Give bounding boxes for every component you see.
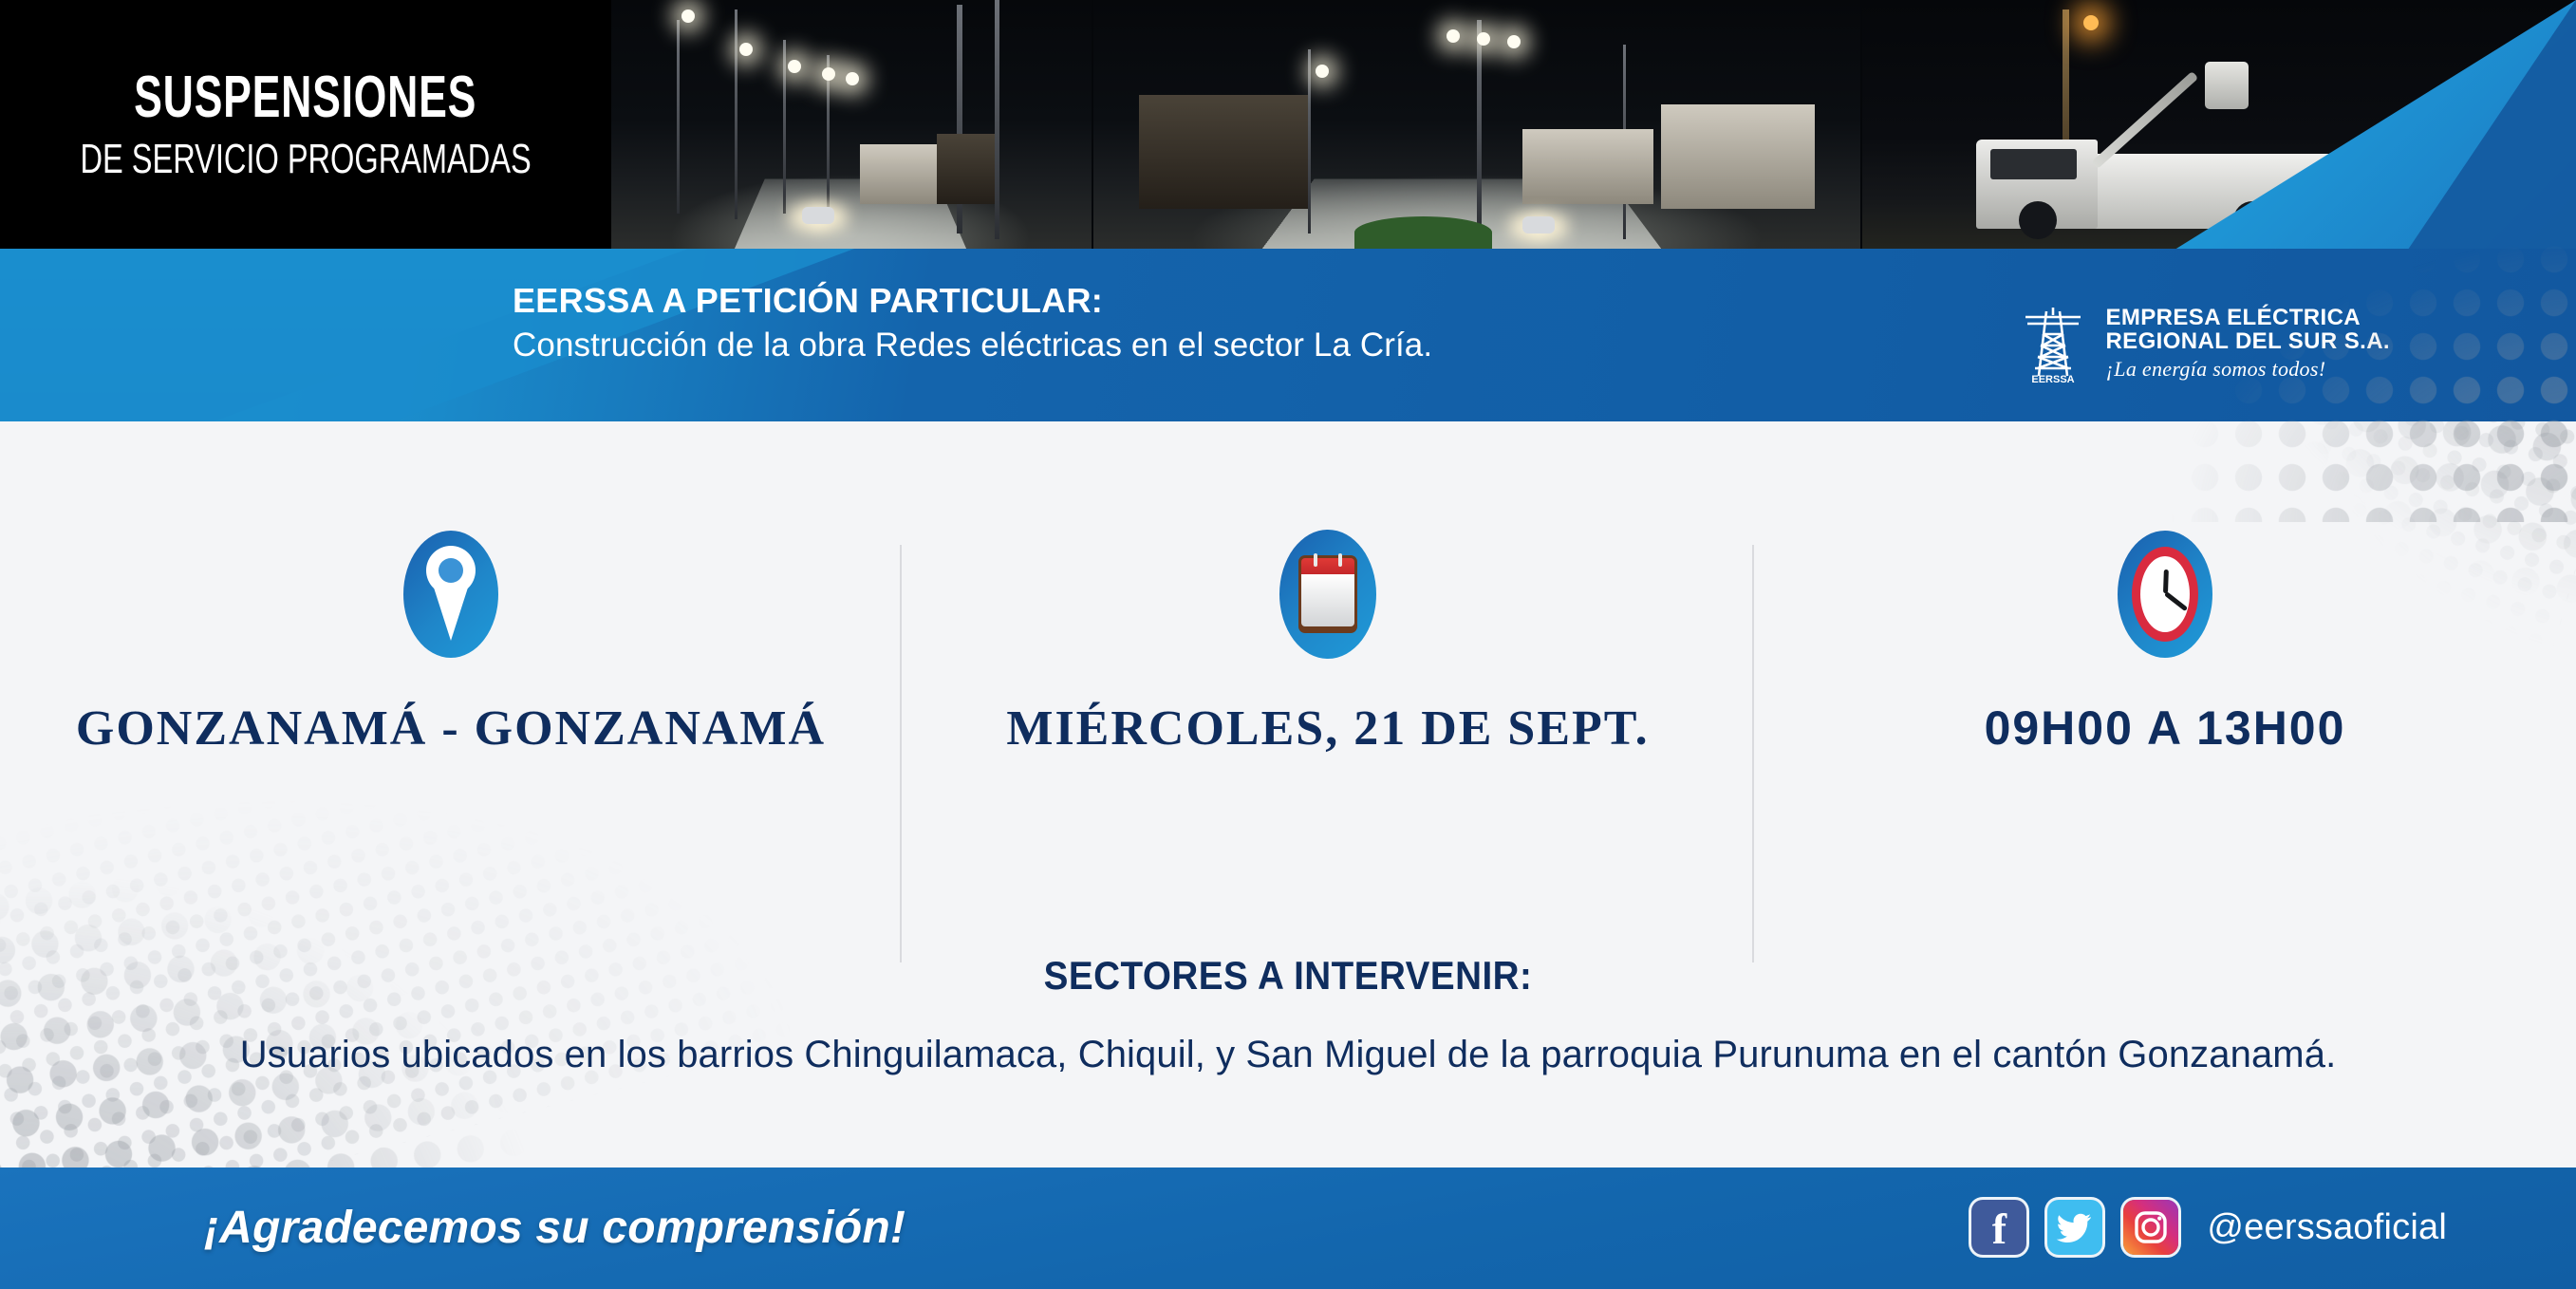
facebook-icon[interactable]: f	[1971, 1200, 2026, 1255]
logo-line-2: REGIONAL DEL SUR S.A.	[2105, 329, 2390, 353]
logo-mark-label: EERSSA	[2032, 374, 2075, 383]
night-street-photo-1	[609, 0, 1092, 249]
time-value: 09H00 A 13H00	[1985, 701, 2346, 756]
sectors-body: Usuarios ubicados en los barrios Chingui…	[121, 1031, 2455, 1079]
utility-truck-photo	[1862, 0, 2576, 249]
twitter-bird-glyph	[2056, 1212, 2094, 1242]
date-value: MIÉRCOLES, 21 DE SEPT.	[1006, 701, 1649, 757]
info-column-date: MIÉRCOLES, 21 DE SEPT.	[902, 421, 1754, 757]
logo-text-group: EMPRESA ELÉCTRICA REGIONAL DEL SUR S.A. …	[2105, 306, 2390, 380]
poster-title-block: SUSPENSIONES DE SERVICIO PROGRAMADAS	[0, 0, 611, 249]
instagram-camera-glyph	[2133, 1209, 2169, 1245]
info-column-time: 09H00 A 13H00	[1754, 421, 2576, 756]
facebook-glyph: f	[1992, 1207, 2007, 1251]
footer-message: ¡Agradecemos su comprensión!	[204, 1202, 905, 1254]
social-links: f @eerssaoficial	[1971, 1200, 2447, 1255]
banner-description: Construcción de la obra Redes eléctricas…	[513, 326, 1432, 365]
logo-slogan: ¡La energía somos todos!	[2105, 358, 2390, 380]
transmission-tower-icon: EERSSA	[2018, 302, 2088, 383]
logo-line-1: EMPRESA ELÉCTRICA	[2105, 306, 2390, 329]
poster-subtitle: DE SERVICIO PROGRAMADAS	[80, 139, 531, 180]
social-handle[interactable]: @eerssaoficial	[2207, 1207, 2447, 1248]
clock-icon	[2118, 537, 2212, 651]
sectors-title: SECTORES A INTERVENIR:	[103, 953, 2473, 999]
twitter-icon[interactable]	[2047, 1200, 2102, 1255]
body-area: GONZANAMÁ - GONZANAMÁ M	[0, 421, 2576, 1168]
poster-title: SUSPENSIONES	[135, 68, 477, 127]
calendar-icon	[1279, 537, 1376, 651]
banner-heading: EERSSA A PETICIÓN PARTICULAR:	[513, 281, 1432, 321]
night-street-photo-2	[1093, 0, 1860, 249]
location-pin-icon	[403, 537, 498, 651]
eerssa-logo: EERSSA EMPRESA ELÉCTRICA REGIONAL DEL SU…	[2018, 302, 2390, 383]
photo-strip: SUSPENSIONES DE SERVICIO PROGRAMADAS	[0, 0, 2576, 249]
suspension-notice-poster: SUSPENSIONES DE SERVICIO PROGRAMADAS EER…	[0, 0, 2576, 1289]
banner-text-group: EERSSA A PETICIÓN PARTICULAR: Construcci…	[513, 281, 1432, 365]
instagram-icon[interactable]	[2123, 1200, 2178, 1255]
location-value: GONZANAMÁ - GONZANAMÁ	[76, 701, 826, 757]
sectors-section: SECTORES A INTERVENIR: Usuarios ubicados…	[0, 953, 2576, 1079]
info-column-location: GONZANAMÁ - GONZANAMÁ	[0, 421, 902, 757]
info-columns: GONZANAMÁ - GONZANAMÁ M	[0, 421, 2576, 953]
footer-bar: ¡Agradecemos su comprensión! f @eerssaof…	[0, 1168, 2576, 1289]
